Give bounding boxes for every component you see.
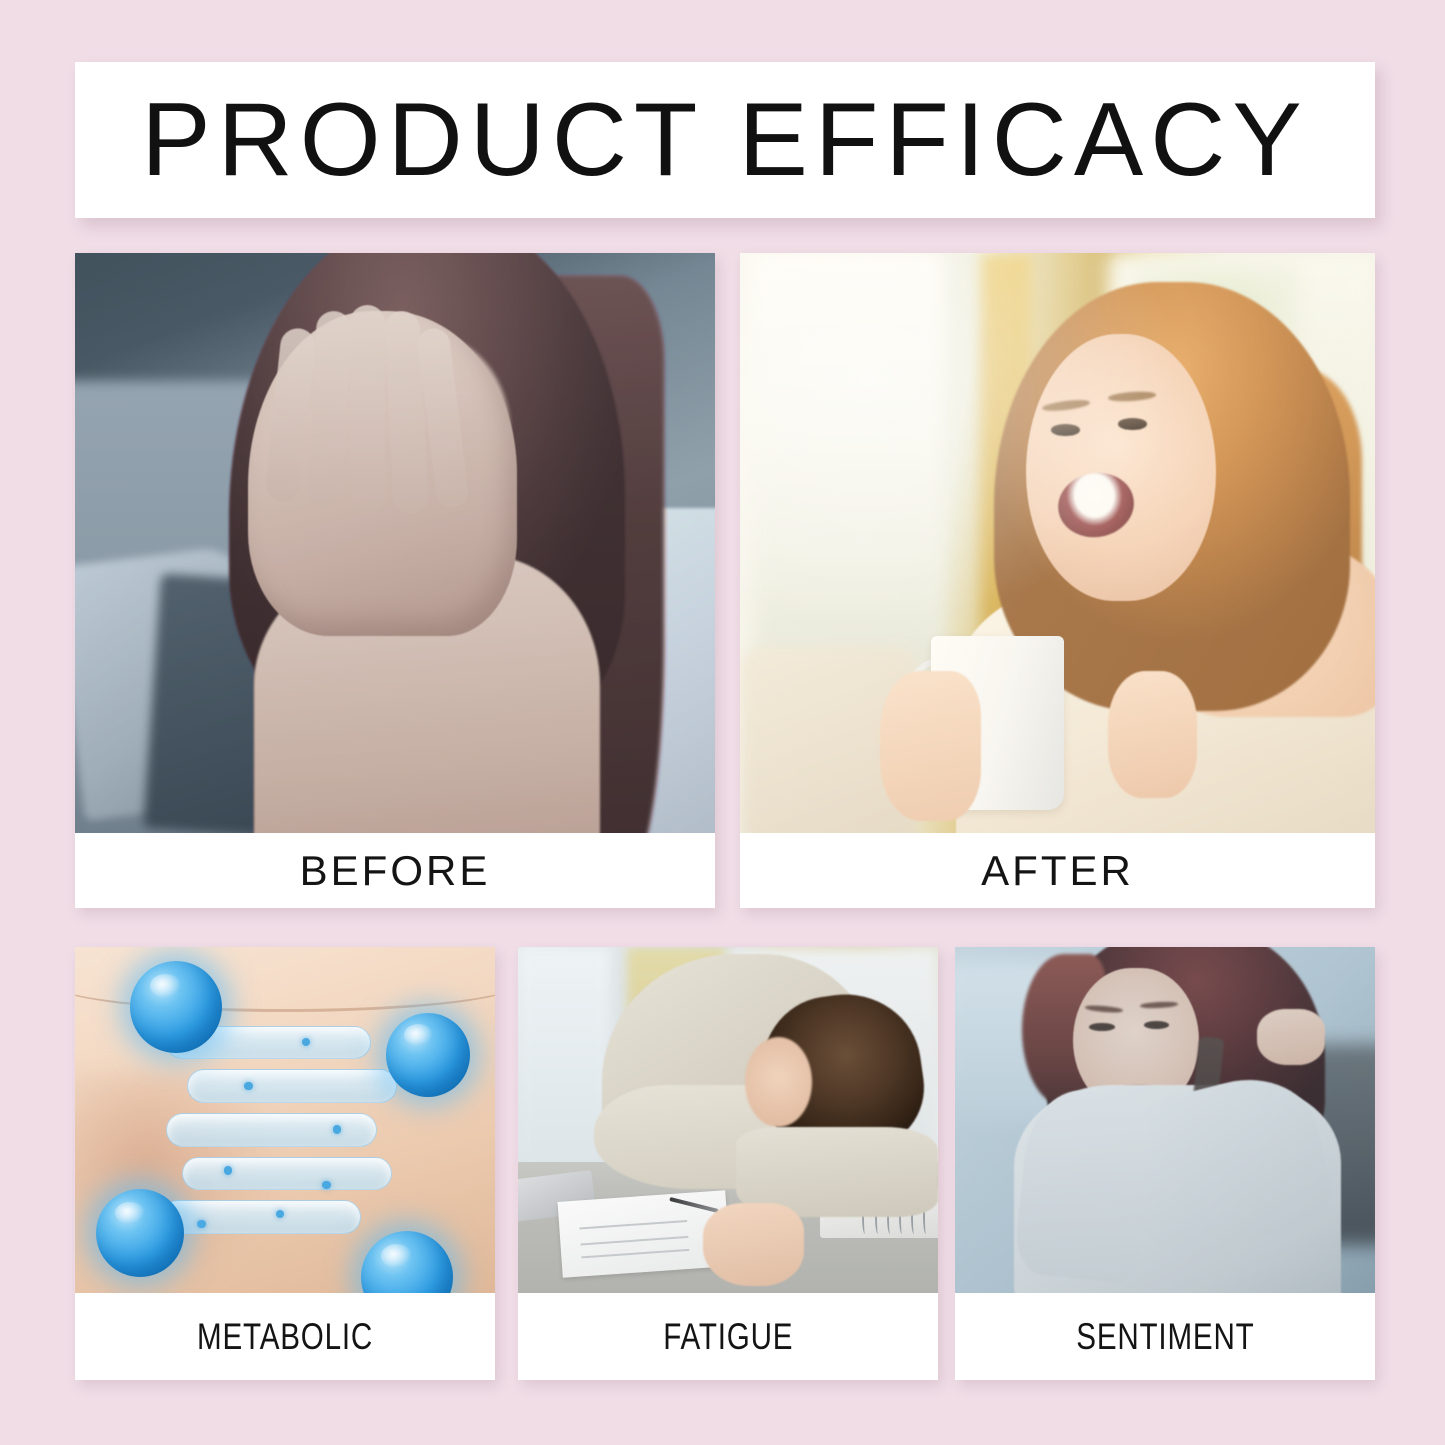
poster-canvas: PRODUCT EFFICACY — [0, 0, 1445, 1445]
metabolic-label-bar: METABOLIC — [75, 1293, 495, 1380]
comparison-card-after[interactable]: AFTER — [740, 253, 1375, 908]
molecule-sphere — [386, 1013, 470, 1097]
fatigue-label-bar: FATIGUE — [518, 1293, 938, 1380]
after-label-bar: AFTER — [740, 833, 1375, 908]
metabolic-photo — [75, 947, 495, 1293]
benefit-card-metabolic[interactable]: METABOLIC — [75, 947, 495, 1380]
before-photo — [75, 253, 715, 833]
molecule-sphere — [96, 1189, 184, 1277]
metabolic-label: METABOLIC — [197, 1316, 373, 1358]
benefit-card-sentiment[interactable]: SENTIMENT — [955, 947, 1375, 1380]
comparison-card-before[interactable]: BEFORE — [75, 253, 715, 908]
after-photo — [740, 253, 1375, 833]
benefit-card-fatigue[interactable]: FATIGUE — [518, 947, 938, 1380]
sentiment-label-bar: SENTIMENT — [955, 1293, 1375, 1380]
fatigue-label: FATIGUE — [663, 1316, 793, 1358]
sentiment-photo — [955, 947, 1375, 1293]
page-title: PRODUCT EFFICACY — [141, 88, 1309, 192]
after-label: AFTER — [981, 847, 1134, 895]
title-card: PRODUCT EFFICACY — [75, 62, 1375, 218]
molecule-sphere — [130, 961, 222, 1053]
before-label: BEFORE — [300, 847, 491, 895]
fatigue-photo — [518, 947, 938, 1293]
sentiment-label: SENTIMENT — [1076, 1316, 1254, 1358]
intestine-illustration — [151, 1016, 411, 1258]
before-label-bar: BEFORE — [75, 833, 715, 908]
